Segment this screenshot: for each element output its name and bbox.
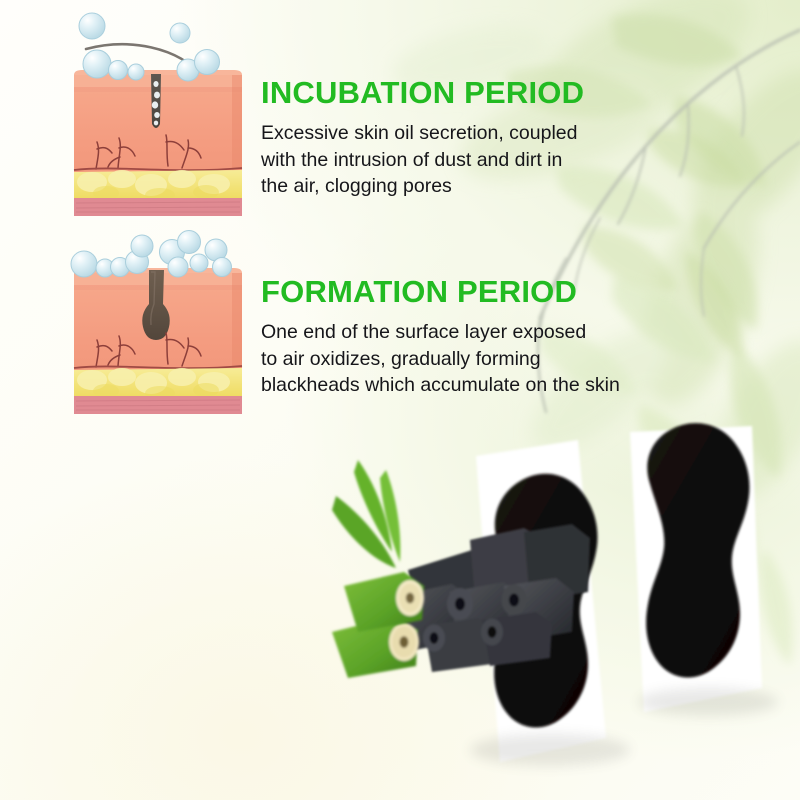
bamboo-leaves [332, 460, 400, 568]
product-photo-area [300, 420, 800, 800]
heading-formation-period: FORMATION PERIOD [261, 276, 620, 307]
section-formation: FORMATION PERIOD One end of the surface … [261, 276, 620, 399]
infographic-page: INCUBATION PERIOD Excessive skin oil sec… [0, 0, 800, 800]
subcutaneous-fat-layer [74, 170, 242, 202]
skin-diagram-incubation [56, 2, 260, 230]
bamboo-stalks [332, 572, 424, 678]
skin-diagram-formation [56, 230, 260, 430]
body-formation-period: One end of the surface layer exposed to … [261, 319, 620, 399]
muscle-layer [74, 198, 242, 216]
section-incubation: INCUBATION PERIOD Excessive skin oil sec… [261, 77, 584, 200]
body-incubation-period: Excessive skin oil secretion, coupled wi… [261, 120, 584, 200]
muscle-layer [74, 396, 242, 414]
subcutaneous-fat-layer [74, 368, 242, 400]
oil-and-dirt-bubbles-floating [79, 13, 190, 43]
clogged-pore [151, 74, 161, 128]
heading-incubation-period: INCUBATION PERIOD [261, 77, 584, 108]
